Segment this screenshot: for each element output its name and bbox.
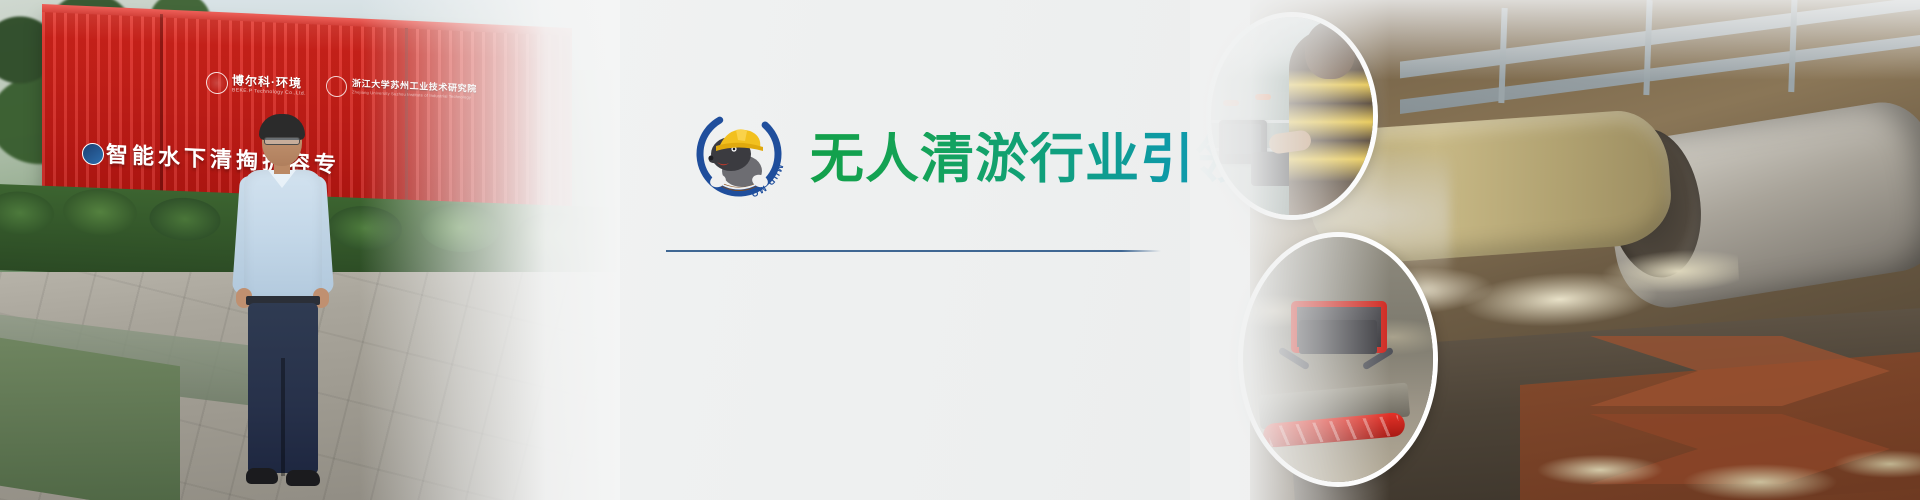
engineer-figure xyxy=(228,118,338,500)
right-photo-composite xyxy=(1190,0,1920,500)
mud-mole-logo: MUD MOLE xyxy=(690,105,788,203)
dress-shirt xyxy=(244,170,322,302)
divider-rule xyxy=(666,250,1161,252)
right-photo-top-fade xyxy=(1190,0,1920,80)
center-content: MUD MOLE 无人清淤行业引领者 xyxy=(660,0,1220,500)
trouser-seam xyxy=(281,358,285,476)
partner-emblem-icon xyxy=(326,76,347,98)
brand-emblem-icon xyxy=(206,72,228,95)
left-photo-container-scene: 博尔科·环境 BEKE.P Technology Co.,Ltd. 浙江大学苏州… xyxy=(0,0,620,500)
hero-banner: 博尔科·环境 BEKE.P Technology Co.,Ltd. 浙江大学苏州… xyxy=(0,0,1920,500)
slogan-badge-icon xyxy=(82,143,104,166)
container-door-seam-2 xyxy=(405,28,408,224)
sediment-deposit xyxy=(1520,430,1920,500)
left-shoe xyxy=(246,468,278,484)
glasses-icon xyxy=(264,137,300,145)
grass-verge xyxy=(0,338,180,500)
right-shoe xyxy=(286,470,320,486)
